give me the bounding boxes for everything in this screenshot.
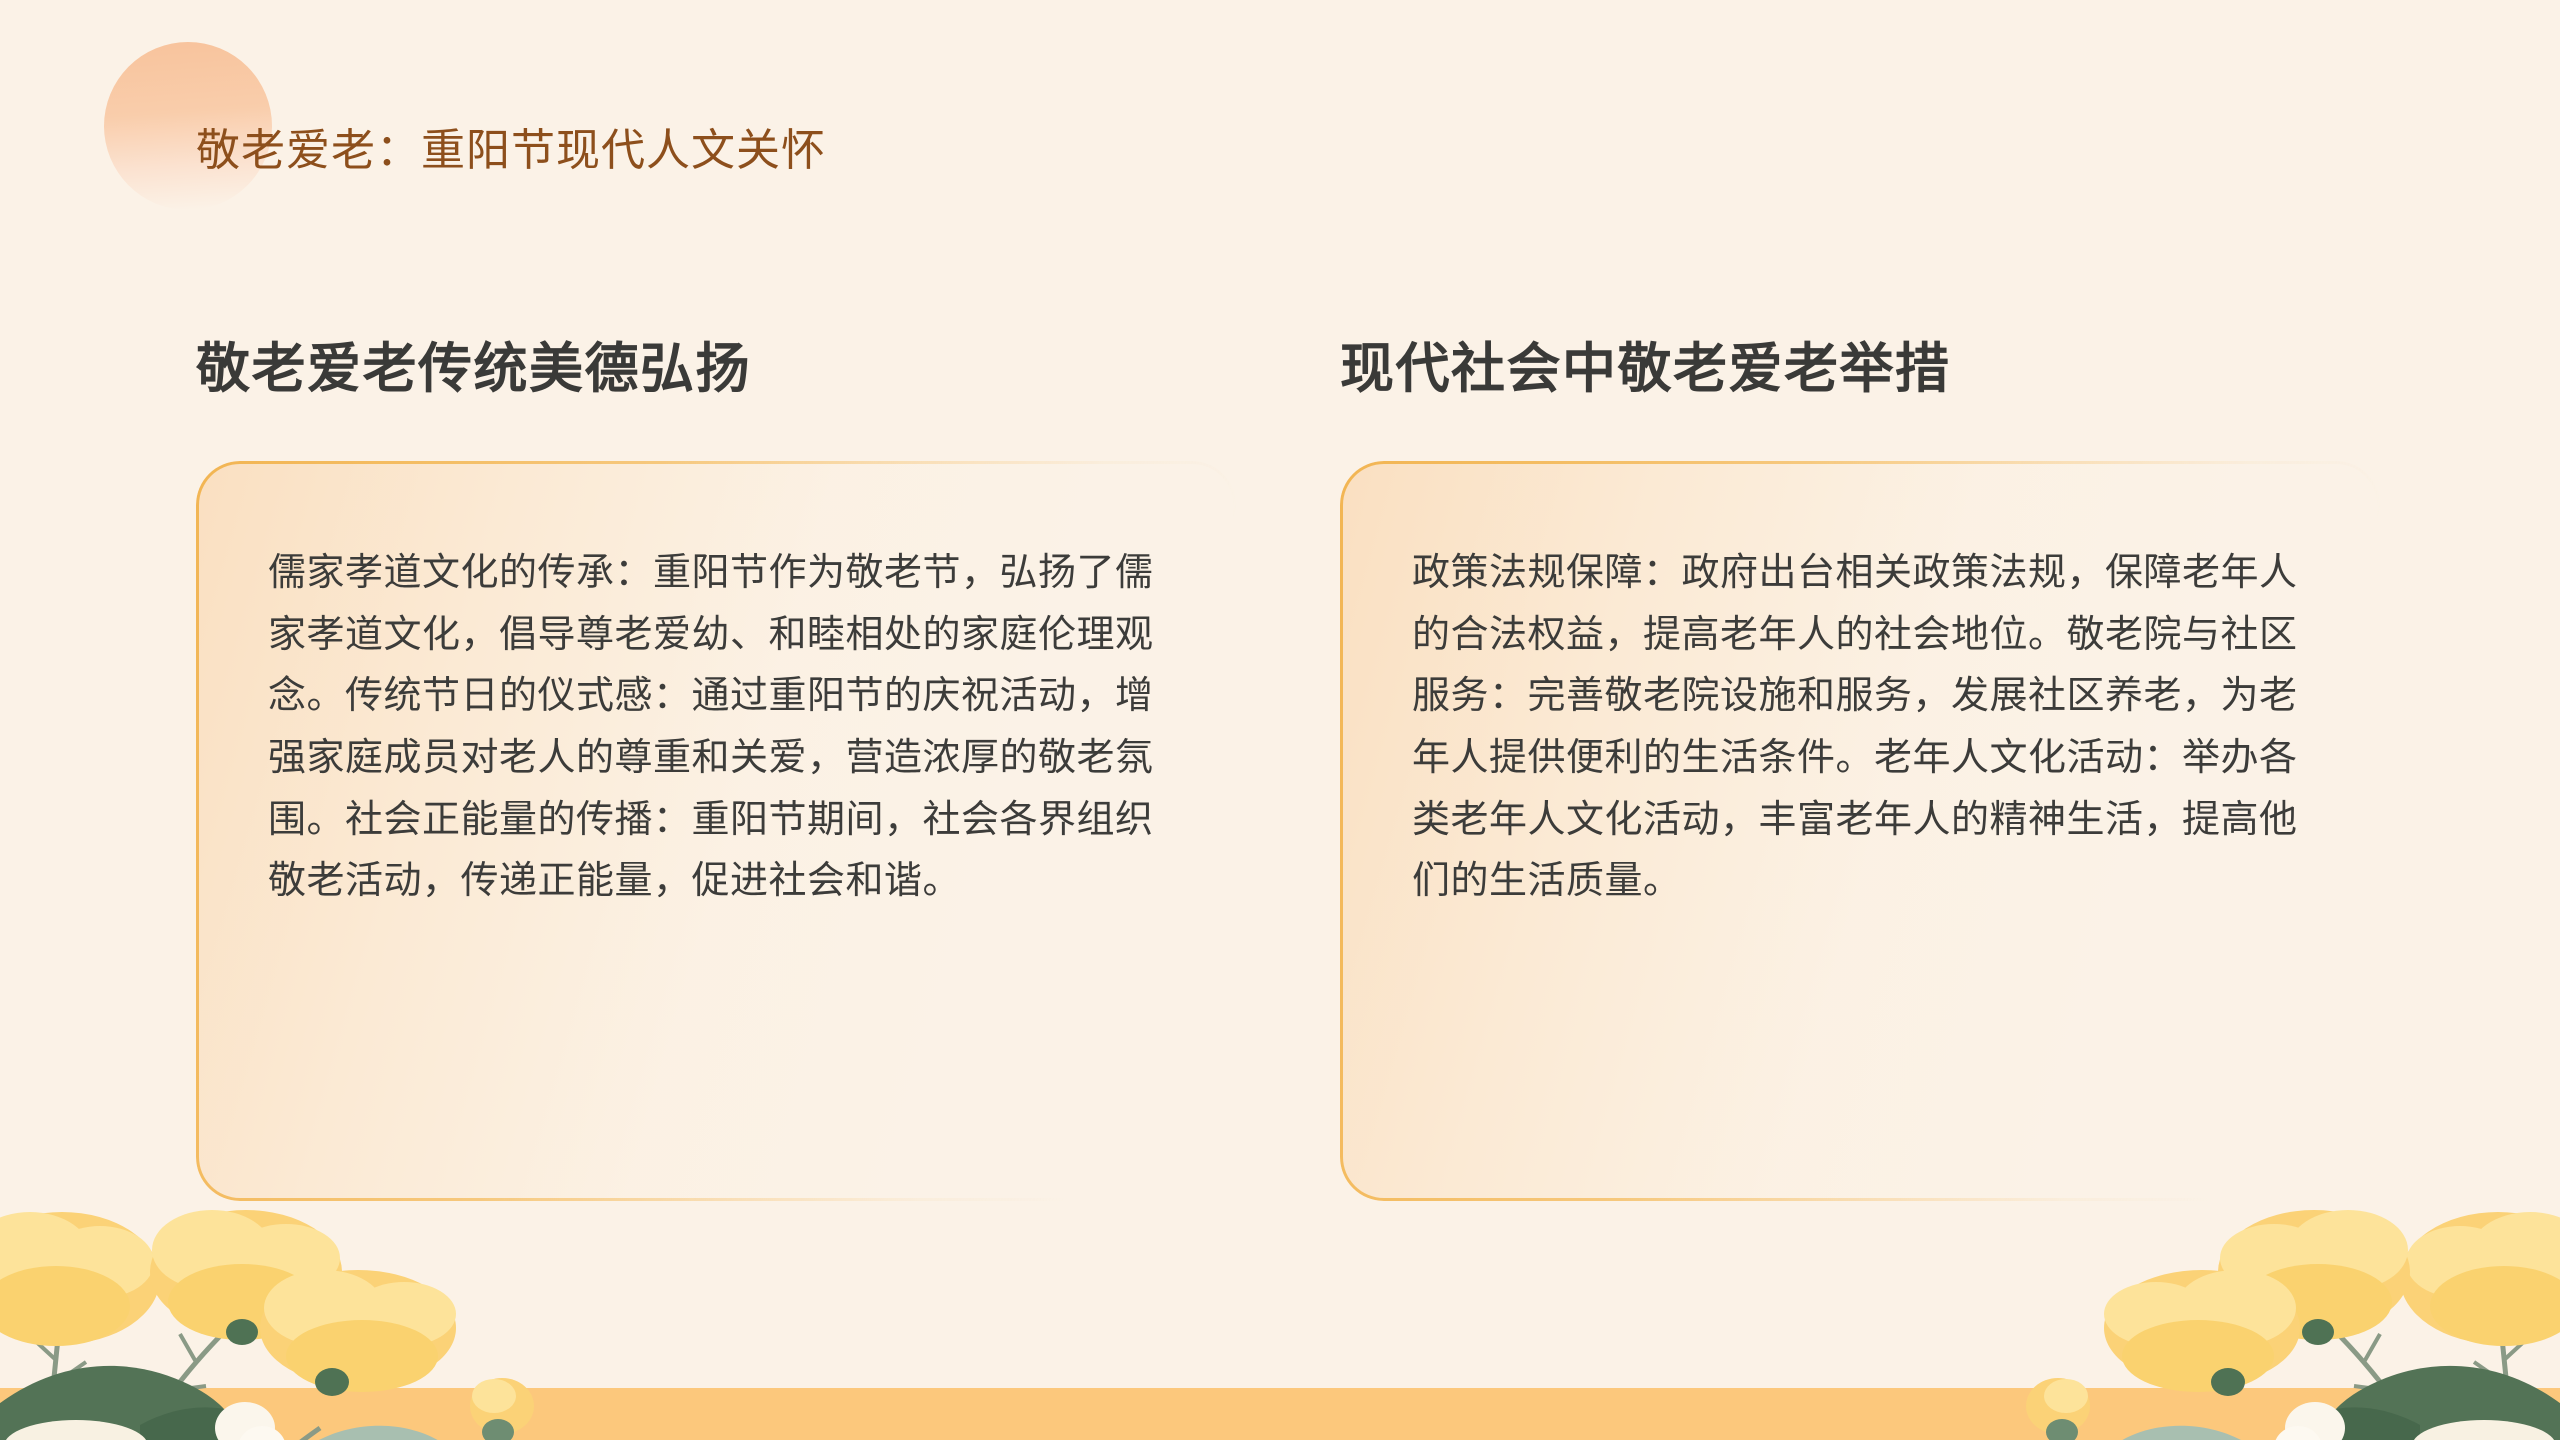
column-right-card-body: 政策法规保障：政府出台相关政策法规，保障老年人的合法权益，提高老年人的社会地位。… <box>1412 543 2318 912</box>
column-left-card-body: 儒家孝道文化的传承：重阳节作为敬老节，弘扬了儒家孝道文化，倡导尊老爱幼、和睦相处… <box>268 543 1174 912</box>
column-left-card: 儒家孝道文化的传承：重阳节作为敬老节，弘扬了儒家孝道文化，倡导尊老爱幼、和睦相处… <box>196 461 1236 1201</box>
column-right: 现代社会中敬老爱老举措 政策法规保障：政府出台相关政策法规，保障老年人的合法权益… <box>1340 340 2500 1201</box>
column-left-heading: 敬老爱老传统美德弘扬 <box>196 340 1356 399</box>
column-right-heading: 现代社会中敬老爱老举措 <box>1340 340 2500 399</box>
column-left: 敬老爱老传统美德弘扬 儒家孝道文化的传承：重阳节作为敬老节，弘扬了儒家孝道文化，… <box>196 340 1356 1201</box>
content-columns: 敬老爱老传统美德弘扬 儒家孝道文化的传承：重阳节作为敬老节，弘扬了儒家孝道文化，… <box>0 0 2560 1440</box>
column-left-paragraph: 儒家孝道文化的传承：重阳节作为敬老节，弘扬了儒家孝道文化，倡导尊老爱幼、和睦相处… <box>268 543 1174 912</box>
slide-canvas: 敬老爱老：重阳节现代人文关怀 <box>0 0 2560 1440</box>
column-right-card: 政策法规保障：政府出台相关政策法规，保障老年人的合法权益，提高老年人的社会地位。… <box>1340 461 2380 1201</box>
column-right-paragraph: 政策法规保障：政府出台相关政策法规，保障老年人的合法权益，提高老年人的社会地位。… <box>1412 543 2318 912</box>
